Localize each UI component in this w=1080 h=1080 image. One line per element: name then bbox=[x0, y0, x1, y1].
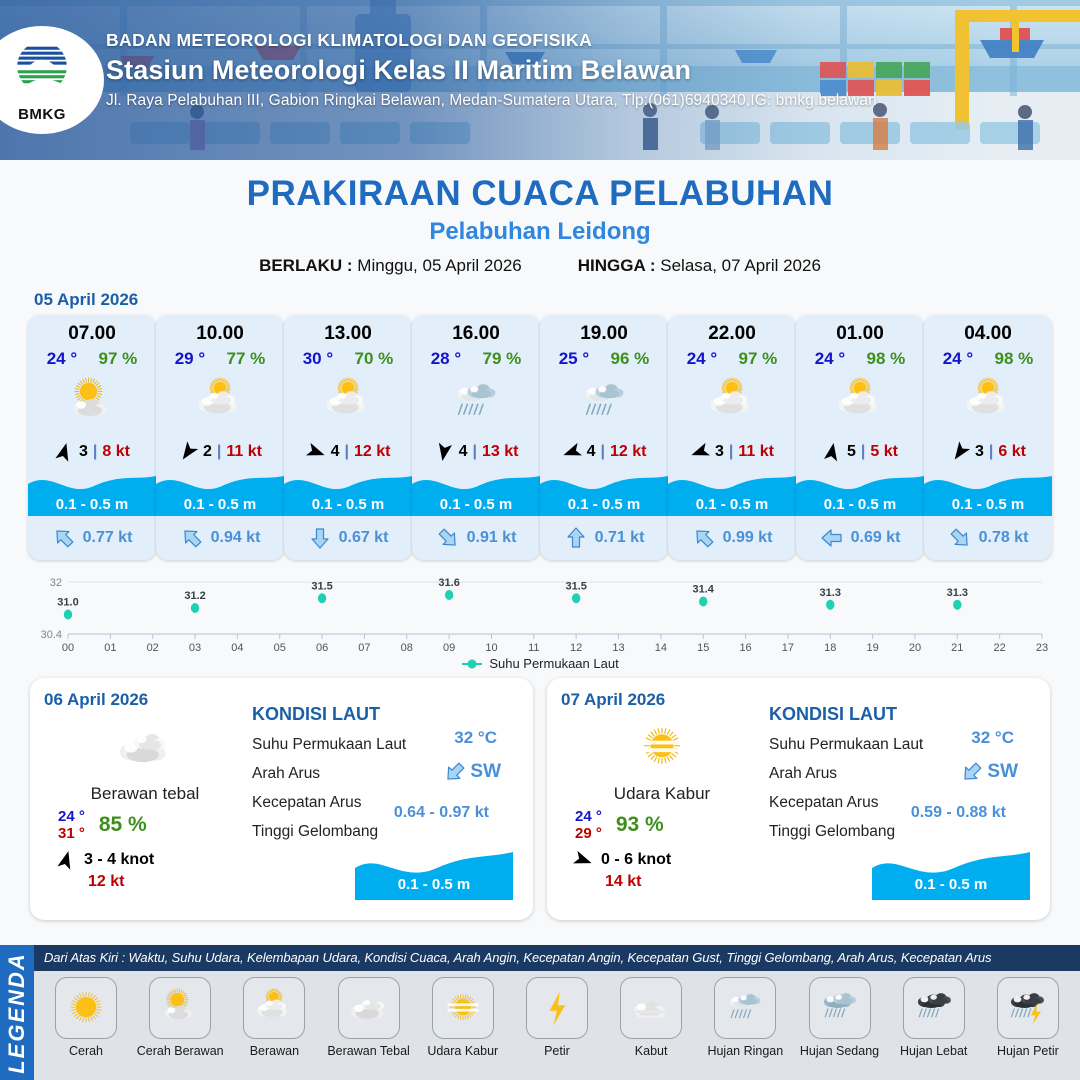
card-wave-band: 0.1 - 0.5 m bbox=[924, 468, 1052, 516]
panel-wind-speed: 0 - 6 knot bbox=[601, 851, 671, 869]
card-time: 01.00 bbox=[796, 315, 924, 345]
agency-name: BADAN METEOROLOGI KLIMATOLOGI DAN GEOFIS… bbox=[106, 30, 1066, 51]
berawan-icon bbox=[831, 373, 889, 431]
panel-gust: 14 kt bbox=[605, 873, 763, 891]
card-weather-icon-wrap bbox=[796, 371, 924, 433]
forecast-card[interactable]: 13.00 30 ° 70 % 4 | 12 kt bbox=[284, 315, 412, 560]
svg-text:31.5: 31.5 bbox=[565, 580, 586, 592]
card-gust: 13 kt bbox=[482, 443, 518, 461]
berawan-icon bbox=[959, 373, 1017, 431]
cerah-berawan-icon bbox=[157, 985, 203, 1031]
panel-condition: Berawan tebal bbox=[44, 784, 246, 804]
panel-humidity: 85 % bbox=[99, 813, 147, 837]
legend-item: Hujan Sedang bbox=[796, 977, 884, 1058]
card-temp-humidity-row: 24 ° 97 % bbox=[668, 345, 796, 369]
panel-temp-row: 24 ° 31 ° 85 % bbox=[58, 808, 246, 843]
card-gust: 12 kt bbox=[610, 443, 646, 461]
svg-text:11: 11 bbox=[528, 642, 539, 654]
hujan-lebat-icon bbox=[911, 985, 957, 1031]
card-humidity: 98 % bbox=[995, 349, 1034, 369]
valid-from-value: Minggu, 05 April 2026 bbox=[357, 256, 521, 275]
card-wind-row: 4 | 12 kt bbox=[540, 435, 668, 469]
sst-chart-plot: 3230.40001020304050607080910111213141516… bbox=[28, 572, 1052, 654]
svg-text:06: 06 bbox=[316, 642, 328, 654]
kabut-icon bbox=[628, 985, 674, 1031]
svg-text:01: 01 bbox=[104, 642, 116, 654]
card-wind-row: 4 | 12 kt bbox=[284, 435, 412, 469]
panel-wave-band: 0.1 - 0.5 m bbox=[355, 846, 513, 900]
legend-items: Cerah Cerah Berawan Berawan bbox=[34, 971, 1080, 1080]
card-separator: | bbox=[472, 443, 476, 461]
chart-legend: Suhu Permukaan Laut bbox=[28, 656, 1052, 671]
panel-wave-band: 0.1 - 0.5 m bbox=[872, 846, 1030, 900]
legend-item-label: Hujan Petir bbox=[984, 1044, 1072, 1058]
card-wave-band: 0.1 - 0.5 m bbox=[796, 468, 924, 516]
card-wave-band: 0.1 - 0.5 m bbox=[412, 468, 540, 516]
card-wind-scale: 5 bbox=[847, 443, 856, 461]
legend-icon-box bbox=[526, 977, 588, 1039]
daily-forecast-panel[interactable]: 06 April 2026 Berawan tebal 24 ° 31 ° 85… bbox=[30, 678, 533, 920]
card-gust: 11 kt bbox=[226, 443, 262, 461]
card-temperature: 25 ° bbox=[559, 349, 589, 369]
legend-item-label: Hujan Ringan bbox=[701, 1044, 789, 1058]
card-humidity: 70 % bbox=[355, 349, 394, 369]
legend-note: Dari Atas Kiri : Waktu, Suhu Udara, Kele… bbox=[34, 945, 1080, 971]
legend-item: Petir bbox=[513, 977, 601, 1058]
svg-text:20: 20 bbox=[909, 642, 921, 654]
legend-side-bar: LEGENDA bbox=[0, 945, 34, 1080]
validity-row: BERLAKU : Minggu, 05 April 2026 HINGGA :… bbox=[0, 256, 1080, 276]
card-time: 19.00 bbox=[540, 315, 668, 345]
svg-text:03: 03 bbox=[189, 642, 201, 654]
card-temp-humidity-row: 25 ° 96 % bbox=[540, 345, 668, 369]
station-address: Jl. Raya Pelabuhan III, Gabion Ringkai B… bbox=[106, 92, 1066, 110]
card-current-row: 0.69 kt bbox=[796, 521, 924, 555]
card-wind-scale: 4 bbox=[459, 443, 468, 461]
card-time: 22.00 bbox=[668, 315, 796, 345]
card-current-speed: 0.78 kt bbox=[979, 529, 1029, 547]
sst-chart: 3230.40001020304050607080910111213141516… bbox=[28, 572, 1052, 672]
current-direction-arrow-icon bbox=[443, 760, 467, 784]
svg-text:17: 17 bbox=[782, 642, 794, 654]
card-time: 16.00 bbox=[412, 315, 540, 345]
panel-right: KONDISI LAUT Suhu Permukaan Laut Arah Ar… bbox=[763, 690, 1036, 908]
berawan-icon bbox=[191, 373, 249, 431]
sea-condition-title: KONDISI LAUT bbox=[769, 704, 1036, 725]
card-wind-row: 3 | 11 kt bbox=[668, 435, 796, 469]
panel-temp-col: 24 ° 29 ° bbox=[575, 808, 602, 843]
card-temp-humidity-row: 24 ° 98 % bbox=[796, 345, 924, 369]
card-time: 07.00 bbox=[28, 315, 156, 345]
legend-item: Hujan Ringan bbox=[701, 977, 789, 1058]
wind-direction-arrow-icon bbox=[950, 441, 970, 463]
card-humidity: 98 % bbox=[867, 349, 906, 369]
card-current-speed: 0.71 kt bbox=[595, 529, 645, 547]
legend-icon-box bbox=[903, 977, 965, 1039]
card-wave-height: 0.1 - 0.5 m bbox=[540, 496, 668, 513]
current-direction-arrow-icon bbox=[308, 526, 332, 550]
card-wind-row: 5 | 5 kt bbox=[796, 435, 924, 469]
panel-date: 06 April 2026 bbox=[44, 690, 246, 710]
value-current-direction: SW bbox=[960, 760, 1018, 784]
valid-to: HINGGA : Selasa, 07 April 2026 bbox=[578, 256, 821, 276]
cerah-berawan-icon bbox=[63, 373, 121, 431]
value-current-speed: 0.64 - 0.97 kt bbox=[394, 804, 489, 822]
card-wave-height: 0.1 - 0.5 m bbox=[28, 496, 156, 513]
panel-weather-icon-wrap bbox=[561, 716, 763, 778]
legend-icon-box bbox=[620, 977, 682, 1039]
card-current-row: 0.94 kt bbox=[156, 521, 284, 555]
daily-forecast-panel[interactable]: 07 April 2026 Udara Kabur 24 ° 29 ° 93 %… bbox=[547, 678, 1050, 920]
legend-icon-box bbox=[149, 977, 211, 1039]
current-direction-text: SW bbox=[987, 761, 1018, 783]
card-wind-row: 4 | 13 kt bbox=[412, 435, 540, 469]
panel-wind-row: 3 - 4 knot bbox=[56, 849, 246, 871]
card-wave-height: 0.1 - 0.5 m bbox=[284, 496, 412, 513]
card-current-speed: 0.94 kt bbox=[211, 529, 261, 547]
legend-icon-box bbox=[338, 977, 400, 1039]
value-sst: 32 °C bbox=[454, 728, 497, 748]
current-direction-arrow-icon bbox=[564, 526, 588, 550]
panel-temp-max: 29 ° bbox=[575, 825, 602, 842]
value-current-speed: 0.59 - 0.88 kt bbox=[911, 804, 1006, 822]
page-subtitle: Pelabuhan Leidong bbox=[0, 218, 1080, 246]
svg-text:13: 13 bbox=[612, 642, 624, 654]
card-wave-height: 0.1 - 0.5 m bbox=[796, 496, 924, 513]
forecast-card[interactable]: 19.00 25 ° 96 % 4 | 12 kt bbox=[540, 315, 668, 560]
sea-condition-title: KONDISI LAUT bbox=[252, 704, 519, 725]
petir-icon bbox=[534, 985, 580, 1031]
card-separator: | bbox=[729, 443, 733, 461]
svg-text:31.3: 31.3 bbox=[947, 587, 968, 599]
card-humidity: 96 % bbox=[611, 349, 650, 369]
panel-temp-row: 24 ° 29 ° 93 % bbox=[575, 808, 763, 843]
svg-text:09: 09 bbox=[443, 642, 455, 654]
legend-section: LEGENDA Dari Atas Kiri : Waktu, Suhu Uda… bbox=[0, 945, 1080, 1080]
card-current-speed: 0.99 kt bbox=[723, 529, 773, 547]
card-wave-height: 0.1 - 0.5 m bbox=[668, 496, 796, 513]
hujan-ringan-icon bbox=[575, 373, 633, 431]
card-wind-row: 3 | 8 kt bbox=[28, 435, 156, 469]
legend-item-label: Hujan Lebat bbox=[890, 1044, 978, 1058]
cerah-icon bbox=[63, 985, 109, 1031]
current-direction-arrow-icon bbox=[436, 526, 460, 550]
hujan-ringan-icon bbox=[722, 985, 768, 1031]
panel-weather-icon-wrap bbox=[44, 716, 246, 778]
legend-icon-box bbox=[55, 977, 117, 1039]
card-separator: | bbox=[344, 443, 348, 461]
svg-text:05: 05 bbox=[274, 642, 286, 654]
legend-item-label: Cerah Berawan bbox=[136, 1044, 224, 1058]
legend-item: Cerah bbox=[42, 977, 130, 1058]
current-direction-arrow-icon bbox=[52, 526, 76, 550]
panel-temp-min: 24 ° bbox=[575, 808, 602, 825]
label-wave-height: Tinggi Gelombang bbox=[769, 823, 1036, 841]
card-wave-band: 0.1 - 0.5 m bbox=[156, 468, 284, 516]
card-separator: | bbox=[217, 443, 221, 461]
wind-direction-arrow-icon bbox=[822, 441, 842, 463]
valid-from: BERLAKU : Minggu, 05 April 2026 bbox=[259, 256, 522, 276]
udara-kabur-icon bbox=[630, 715, 694, 779]
card-temp-humidity-row: 28 ° 79 % bbox=[412, 345, 540, 369]
wind-direction-arrow-icon bbox=[573, 849, 593, 871]
berawan-icon bbox=[251, 985, 297, 1031]
card-current-row: 0.77 kt bbox=[28, 521, 156, 555]
svg-text:16: 16 bbox=[739, 642, 751, 654]
berawan-icon bbox=[319, 373, 377, 431]
daily-panel-row: 06 April 2026 Berawan tebal 24 ° 31 ° 85… bbox=[0, 672, 1080, 920]
svg-text:31.3: 31.3 bbox=[820, 587, 841, 599]
card-temp-humidity-row: 29 ° 77 % bbox=[156, 345, 284, 369]
legend-item: Cerah Berawan bbox=[136, 977, 224, 1058]
card-weather-icon-wrap bbox=[924, 371, 1052, 433]
current-direction-arrow-icon bbox=[692, 526, 716, 550]
legend-item: Kabut bbox=[607, 977, 695, 1058]
svg-text:30.4: 30.4 bbox=[41, 629, 62, 641]
value-sst: 32 °C bbox=[971, 728, 1014, 748]
card-current-row: 0.67 kt bbox=[284, 521, 412, 555]
svg-text:31.2: 31.2 bbox=[184, 590, 205, 602]
panel-gust: 12 kt bbox=[88, 873, 246, 891]
card-wave-height: 0.1 - 0.5 m bbox=[156, 496, 284, 513]
panel-right: KONDISI LAUT Suhu Permukaan Laut Arah Ar… bbox=[246, 690, 519, 908]
current-direction-arrow-icon bbox=[180, 526, 204, 550]
panel-wind-speed: 3 - 4 knot bbox=[84, 851, 154, 869]
svg-text:02: 02 bbox=[147, 642, 159, 654]
svg-text:10: 10 bbox=[485, 642, 497, 654]
wind-direction-arrow-icon bbox=[690, 441, 710, 463]
card-temperature: 24 ° bbox=[47, 349, 77, 369]
chart-legend-label: Suhu Permukaan Laut bbox=[489, 656, 618, 671]
wind-direction-arrow-icon bbox=[54, 441, 74, 463]
hujan-ringan-icon bbox=[447, 373, 505, 431]
wind-direction-arrow-icon bbox=[306, 441, 326, 463]
valid-to-label: HINGGA : bbox=[578, 256, 656, 275]
card-gust: 12 kt bbox=[354, 443, 390, 461]
card-separator: | bbox=[989, 443, 993, 461]
card-temperature: 29 ° bbox=[175, 349, 205, 369]
card-wave-band: 0.1 - 0.5 m bbox=[668, 468, 796, 516]
berawan-tebal-icon bbox=[113, 715, 177, 779]
berawan-icon bbox=[703, 373, 761, 431]
panel-left: 07 April 2026 Udara Kabur 24 ° 29 ° 93 %… bbox=[561, 690, 763, 908]
card-current-speed: 0.67 kt bbox=[339, 529, 389, 547]
card-wave-band: 0.1 - 0.5 m bbox=[540, 468, 668, 516]
legend-icon-box bbox=[432, 977, 494, 1039]
card-temperature: 24 ° bbox=[687, 349, 717, 369]
bmkg-emblem-icon bbox=[11, 38, 73, 100]
panel-temp-max: 31 ° bbox=[58, 825, 85, 842]
card-wind-scale: 4 bbox=[331, 443, 340, 461]
legend-item-label: Hujan Sedang bbox=[796, 1044, 884, 1058]
legend-icon-box bbox=[997, 977, 1059, 1039]
card-wind-scale: 3 bbox=[975, 443, 984, 461]
wind-direction-arrow-icon bbox=[178, 441, 198, 463]
page-title-block: PRAKIRAAN CUACA PELABUHAN Pelabuhan Leid… bbox=[0, 160, 1080, 276]
forecast-card[interactable]: 04.00 24 ° 98 % 3 | 6 kt bbox=[924, 315, 1052, 560]
page-title: PRAKIRAAN CUACA PELABUHAN bbox=[0, 174, 1080, 214]
current-direction-arrow-icon bbox=[948, 526, 972, 550]
valid-from-label: BERLAKU : bbox=[259, 256, 353, 275]
forecast-card[interactable]: 07.00 24 ° 97 % 3 | 8 kt 0.1 - 0.5 bbox=[28, 315, 156, 560]
forecast-card[interactable]: 01.00 24 ° 98 % 5 | 5 kt bbox=[796, 315, 924, 560]
current-direction-text: SW bbox=[470, 761, 501, 783]
hujan-sedang-icon bbox=[817, 985, 863, 1031]
svg-text:12: 12 bbox=[570, 642, 582, 654]
hujan-petir-icon bbox=[1005, 985, 1051, 1031]
valid-to-value: Selasa, 07 April 2026 bbox=[660, 256, 821, 275]
chart-legend-marker-icon bbox=[461, 658, 483, 670]
udara-kabur-icon bbox=[440, 985, 486, 1031]
card-current-row: 0.71 kt bbox=[540, 521, 668, 555]
legend-icon-box bbox=[714, 977, 776, 1039]
panel-date: 07 April 2026 bbox=[561, 690, 763, 710]
forecast-card[interactable]: 16.00 28 ° 79 % 4 | 13 kt bbox=[412, 315, 540, 560]
card-gust: 5 kt bbox=[870, 443, 898, 461]
wind-direction-arrow-icon bbox=[56, 849, 76, 871]
legend-item: Udara Kabur bbox=[419, 977, 507, 1058]
card-temp-humidity-row: 24 ° 98 % bbox=[924, 345, 1052, 369]
legend-item-label: Cerah bbox=[42, 1044, 130, 1058]
card-wave-height: 0.1 - 0.5 m bbox=[924, 496, 1052, 513]
card-time: 04.00 bbox=[924, 315, 1052, 345]
card-humidity: 97 % bbox=[739, 349, 778, 369]
panel-humidity: 93 % bbox=[616, 813, 664, 837]
card-temperature: 24 ° bbox=[815, 349, 845, 369]
wind-direction-arrow-icon bbox=[434, 441, 454, 463]
label-wave-height: Tinggi Gelombang bbox=[252, 823, 519, 841]
banner-text-block: BADAN METEOROLOGI KLIMATOLOGI DAN GEOFIS… bbox=[106, 30, 1066, 110]
card-weather-icon-wrap bbox=[28, 371, 156, 433]
legend-icon-box bbox=[809, 977, 871, 1039]
card-wind-row: 3 | 6 kt bbox=[924, 435, 1052, 469]
card-time: 13.00 bbox=[284, 315, 412, 345]
card-time: 10.00 bbox=[156, 315, 284, 345]
panel-left: 06 April 2026 Berawan tebal 24 ° 31 ° 85… bbox=[44, 690, 246, 908]
forecast-date-label: 05 April 2026 bbox=[34, 290, 1080, 310]
card-weather-icon-wrap bbox=[156, 371, 284, 433]
legend-body: Dari Atas Kiri : Waktu, Suhu Udara, Kele… bbox=[34, 945, 1080, 1080]
panel-condition: Udara Kabur bbox=[561, 784, 763, 804]
svg-text:22: 22 bbox=[994, 642, 1006, 654]
panel-temp-min: 24 ° bbox=[58, 808, 85, 825]
svg-text:14: 14 bbox=[655, 642, 667, 654]
card-weather-icon-wrap bbox=[540, 371, 668, 433]
forecast-card[interactable]: 10.00 29 ° 77 % 2 | 11 kt bbox=[156, 315, 284, 560]
card-gust: 8 kt bbox=[102, 443, 130, 461]
card-humidity: 79 % bbox=[483, 349, 522, 369]
card-wind-scale: 4 bbox=[587, 443, 596, 461]
bmkg-logo-text: BMKG bbox=[5, 106, 79, 123]
card-wind-scale: 2 bbox=[203, 443, 212, 461]
berawan-tebal-icon bbox=[346, 985, 392, 1031]
card-wind-scale: 3 bbox=[79, 443, 88, 461]
legend-item: Berawan Tebal bbox=[325, 977, 413, 1058]
legend-item: Hujan Petir bbox=[984, 977, 1072, 1058]
panel-wave-height: 0.1 - 0.5 m bbox=[355, 876, 513, 893]
svg-text:15: 15 bbox=[697, 642, 709, 654]
card-humidity: 77 % bbox=[227, 349, 266, 369]
svg-text:31.6: 31.6 bbox=[438, 577, 459, 589]
card-weather-icon-wrap bbox=[412, 371, 540, 433]
card-current-speed: 0.77 kt bbox=[83, 529, 133, 547]
card-wind-row: 2 | 11 kt bbox=[156, 435, 284, 469]
svg-text:31.0: 31.0 bbox=[57, 597, 78, 609]
card-temperature: 24 ° bbox=[943, 349, 973, 369]
card-separator: | bbox=[600, 443, 604, 461]
legend-side-label: LEGENDA bbox=[4, 952, 30, 1074]
current-direction-arrow-icon bbox=[960, 760, 984, 784]
card-weather-icon-wrap bbox=[284, 371, 412, 433]
card-temperature: 28 ° bbox=[431, 349, 461, 369]
current-direction-arrow-icon bbox=[820, 526, 844, 550]
card-gust: 6 kt bbox=[998, 443, 1026, 461]
card-gust: 11 kt bbox=[738, 443, 774, 461]
svg-text:32: 32 bbox=[50, 577, 62, 589]
svg-text:21: 21 bbox=[951, 642, 963, 654]
card-wave-height: 0.1 - 0.5 m bbox=[412, 496, 540, 513]
card-current-speed: 0.91 kt bbox=[467, 529, 517, 547]
legend-item-label: Kabut bbox=[607, 1044, 695, 1058]
svg-text:04: 04 bbox=[231, 642, 243, 654]
card-humidity: 97 % bbox=[99, 349, 138, 369]
card-current-row: 0.99 kt bbox=[668, 521, 796, 555]
legend-item-label: Petir bbox=[513, 1044, 601, 1058]
wind-direction-arrow-icon bbox=[562, 441, 582, 463]
svg-text:19: 19 bbox=[866, 642, 878, 654]
svg-text:31.4: 31.4 bbox=[693, 584, 715, 596]
legend-item: Berawan bbox=[230, 977, 318, 1058]
card-weather-icon-wrap bbox=[668, 371, 796, 433]
legend-icon-box bbox=[243, 977, 305, 1039]
card-wind-scale: 3 bbox=[715, 443, 724, 461]
card-separator: | bbox=[93, 443, 97, 461]
card-current-row: 0.78 kt bbox=[924, 521, 1052, 555]
forecast-card-row: 07.00 24 ° 97 % 3 | 8 kt 0.1 - 0.5 bbox=[0, 315, 1080, 560]
forecast-card[interactable]: 22.00 24 ° 97 % 3 | 11 kt bbox=[668, 315, 796, 560]
card-temp-humidity-row: 24 ° 97 % bbox=[28, 345, 156, 369]
legend-item-label: Udara Kabur bbox=[419, 1044, 507, 1058]
svg-text:08: 08 bbox=[401, 642, 413, 654]
panel-temp-col: 24 ° 31 ° bbox=[58, 808, 85, 843]
value-current-direction: SW bbox=[443, 760, 501, 784]
svg-text:31.5: 31.5 bbox=[311, 580, 332, 592]
legend-item: Hujan Lebat bbox=[890, 977, 978, 1058]
svg-text:23: 23 bbox=[1036, 642, 1048, 654]
panel-wind-row: 0 - 6 knot bbox=[573, 849, 763, 871]
card-wave-band: 0.1 - 0.5 m bbox=[284, 468, 412, 516]
header-banner: BMKG BADAN METEOROLOGI KLIMATOLOGI DAN G… bbox=[0, 0, 1080, 160]
card-wave-band: 0.1 - 0.5 m bbox=[28, 468, 156, 516]
legend-item-label: Berawan bbox=[230, 1044, 318, 1058]
legend-item-label: Berawan Tebal bbox=[325, 1044, 413, 1058]
card-current-row: 0.91 kt bbox=[412, 521, 540, 555]
card-current-speed: 0.69 kt bbox=[851, 529, 901, 547]
svg-text:07: 07 bbox=[358, 642, 370, 654]
card-temp-humidity-row: 30 ° 70 % bbox=[284, 345, 412, 369]
svg-text:00: 00 bbox=[62, 642, 74, 654]
panel-wave-height: 0.1 - 0.5 m bbox=[872, 876, 1030, 893]
card-separator: | bbox=[861, 443, 865, 461]
station-name: Stasiun Meteorologi Kelas II Maritim Bel… bbox=[106, 55, 1066, 86]
svg-text:18: 18 bbox=[824, 642, 836, 654]
card-temperature: 30 ° bbox=[303, 349, 333, 369]
